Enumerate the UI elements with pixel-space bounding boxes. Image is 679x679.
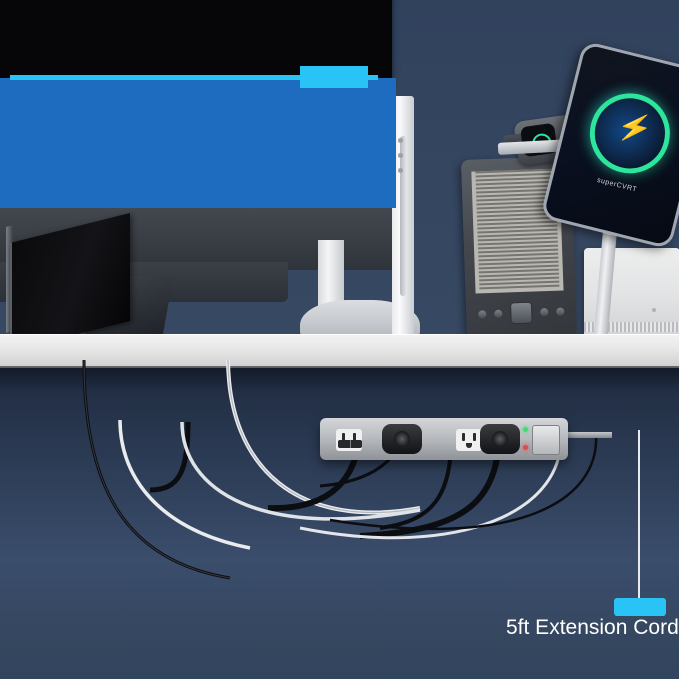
headline-banner (0, 78, 396, 208)
banner-accent-block (300, 66, 368, 88)
e-reader-buttons (478, 298, 565, 327)
power-switch[interactable] (532, 425, 560, 455)
callout-label: 5ft Extension Cord (506, 616, 679, 640)
plug-inserted (480, 424, 520, 454)
monitor-button-dots (398, 138, 403, 183)
e-reader-dpad (510, 302, 533, 325)
product-marketing-image: ⚡ superCVRT (0, 0, 679, 679)
plug-inserted (382, 424, 422, 454)
power-led-green (523, 427, 528, 432)
outlet-socket (456, 429, 482, 451)
speaker-indicator-dot (652, 308, 656, 312)
callout-accent-chip (614, 598, 666, 616)
power-strip (320, 418, 568, 460)
usb-port (338, 440, 362, 448)
power-strip-cord (566, 432, 612, 438)
status-led-red (523, 445, 528, 450)
callout-leader-line (638, 430, 640, 602)
